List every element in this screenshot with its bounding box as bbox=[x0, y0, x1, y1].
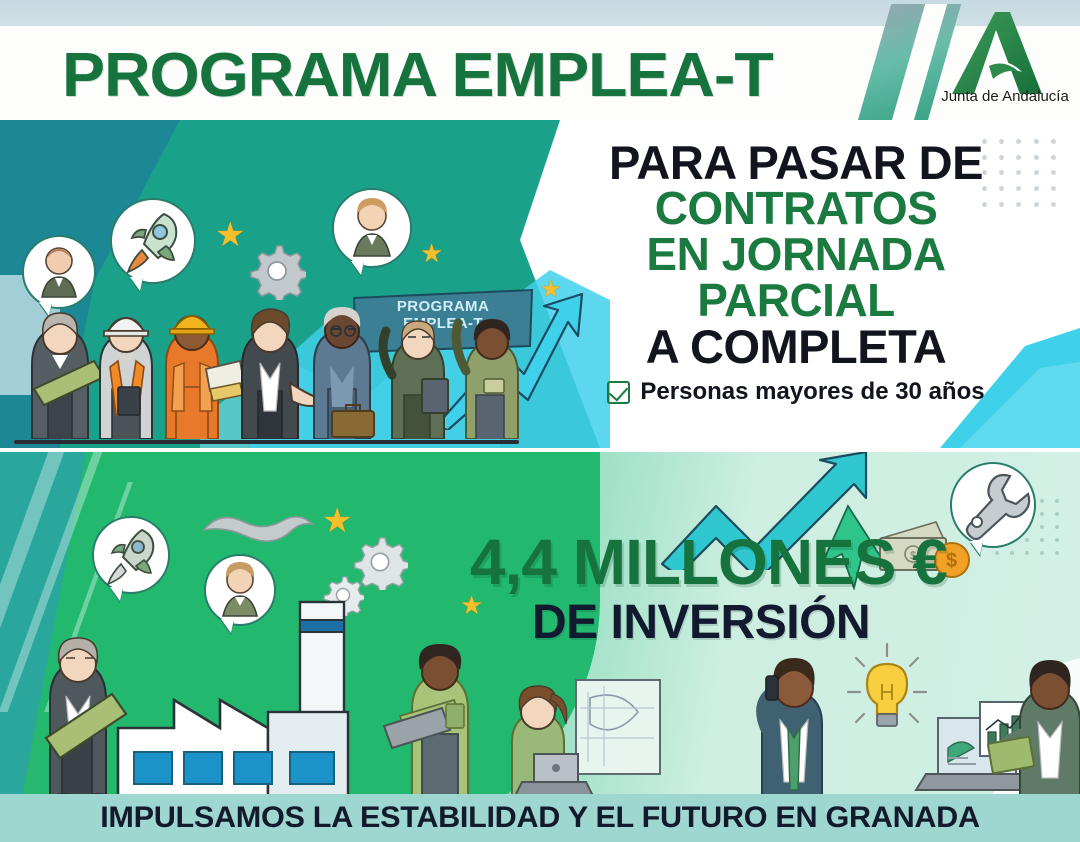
headline-line-1: PARA PASAR DE bbox=[536, 140, 1056, 185]
person-illustration-laptop-worker bbox=[494, 642, 684, 807]
investment-amount: 4,4 MILLONES € bbox=[470, 530, 1070, 594]
investment-figure: 4,4 MILLONES € DE INVERSIÓN bbox=[470, 530, 1070, 648]
people-group-illustration bbox=[14, 239, 534, 444]
page-title: PROGRAMA EMPLEA-T bbox=[62, 40, 773, 111]
star-icon: ★ bbox=[322, 504, 352, 538]
brand-name: Junta de Andalucía bbox=[940, 88, 1070, 105]
header: PROGRAMA EMPLEA-T Junta de Andalucía bbox=[0, 26, 1080, 120]
investment-subtitle: DE INVERSIÓN bbox=[532, 598, 1070, 648]
bottom-panel: $ $ bbox=[0, 452, 1080, 842]
checkbox-checked-icon bbox=[607, 381, 630, 404]
footer-text: IMPULSAMOS LA ESTABILIDAD Y EL FUTURO EN… bbox=[0, 801, 1080, 835]
top-panel: PROGRAMA EMPLEA-T bbox=[0, 120, 1080, 448]
eligibility-note: Personas mayores de 30 años bbox=[536, 378, 1056, 406]
person-illustration-analyst bbox=[22, 568, 142, 811]
ground-line bbox=[14, 440, 519, 444]
headline-line-3: EN JORNADA bbox=[536, 231, 1056, 277]
eligibility-note-text: Personas mayores de 30 años bbox=[640, 378, 984, 406]
factory-icon bbox=[108, 592, 408, 817]
top-panel-headline: PARA PASAR DE CONTRATOS EN JORNADA PARCI… bbox=[536, 140, 1056, 406]
headline-line-2: CONTRATOS bbox=[536, 185, 1056, 231]
headline-line-5: A COMPLETA bbox=[536, 323, 1056, 370]
person-illustration-report-analyst bbox=[902, 630, 1080, 807]
headline-line-4: PARCIAL bbox=[536, 277, 1056, 323]
brand-logo: Junta de Andalucía bbox=[874, 4, 1070, 124]
infographic-poster: PROGRAMA EMPLEA-T Junta de Andalucía bbox=[0, 0, 1080, 842]
